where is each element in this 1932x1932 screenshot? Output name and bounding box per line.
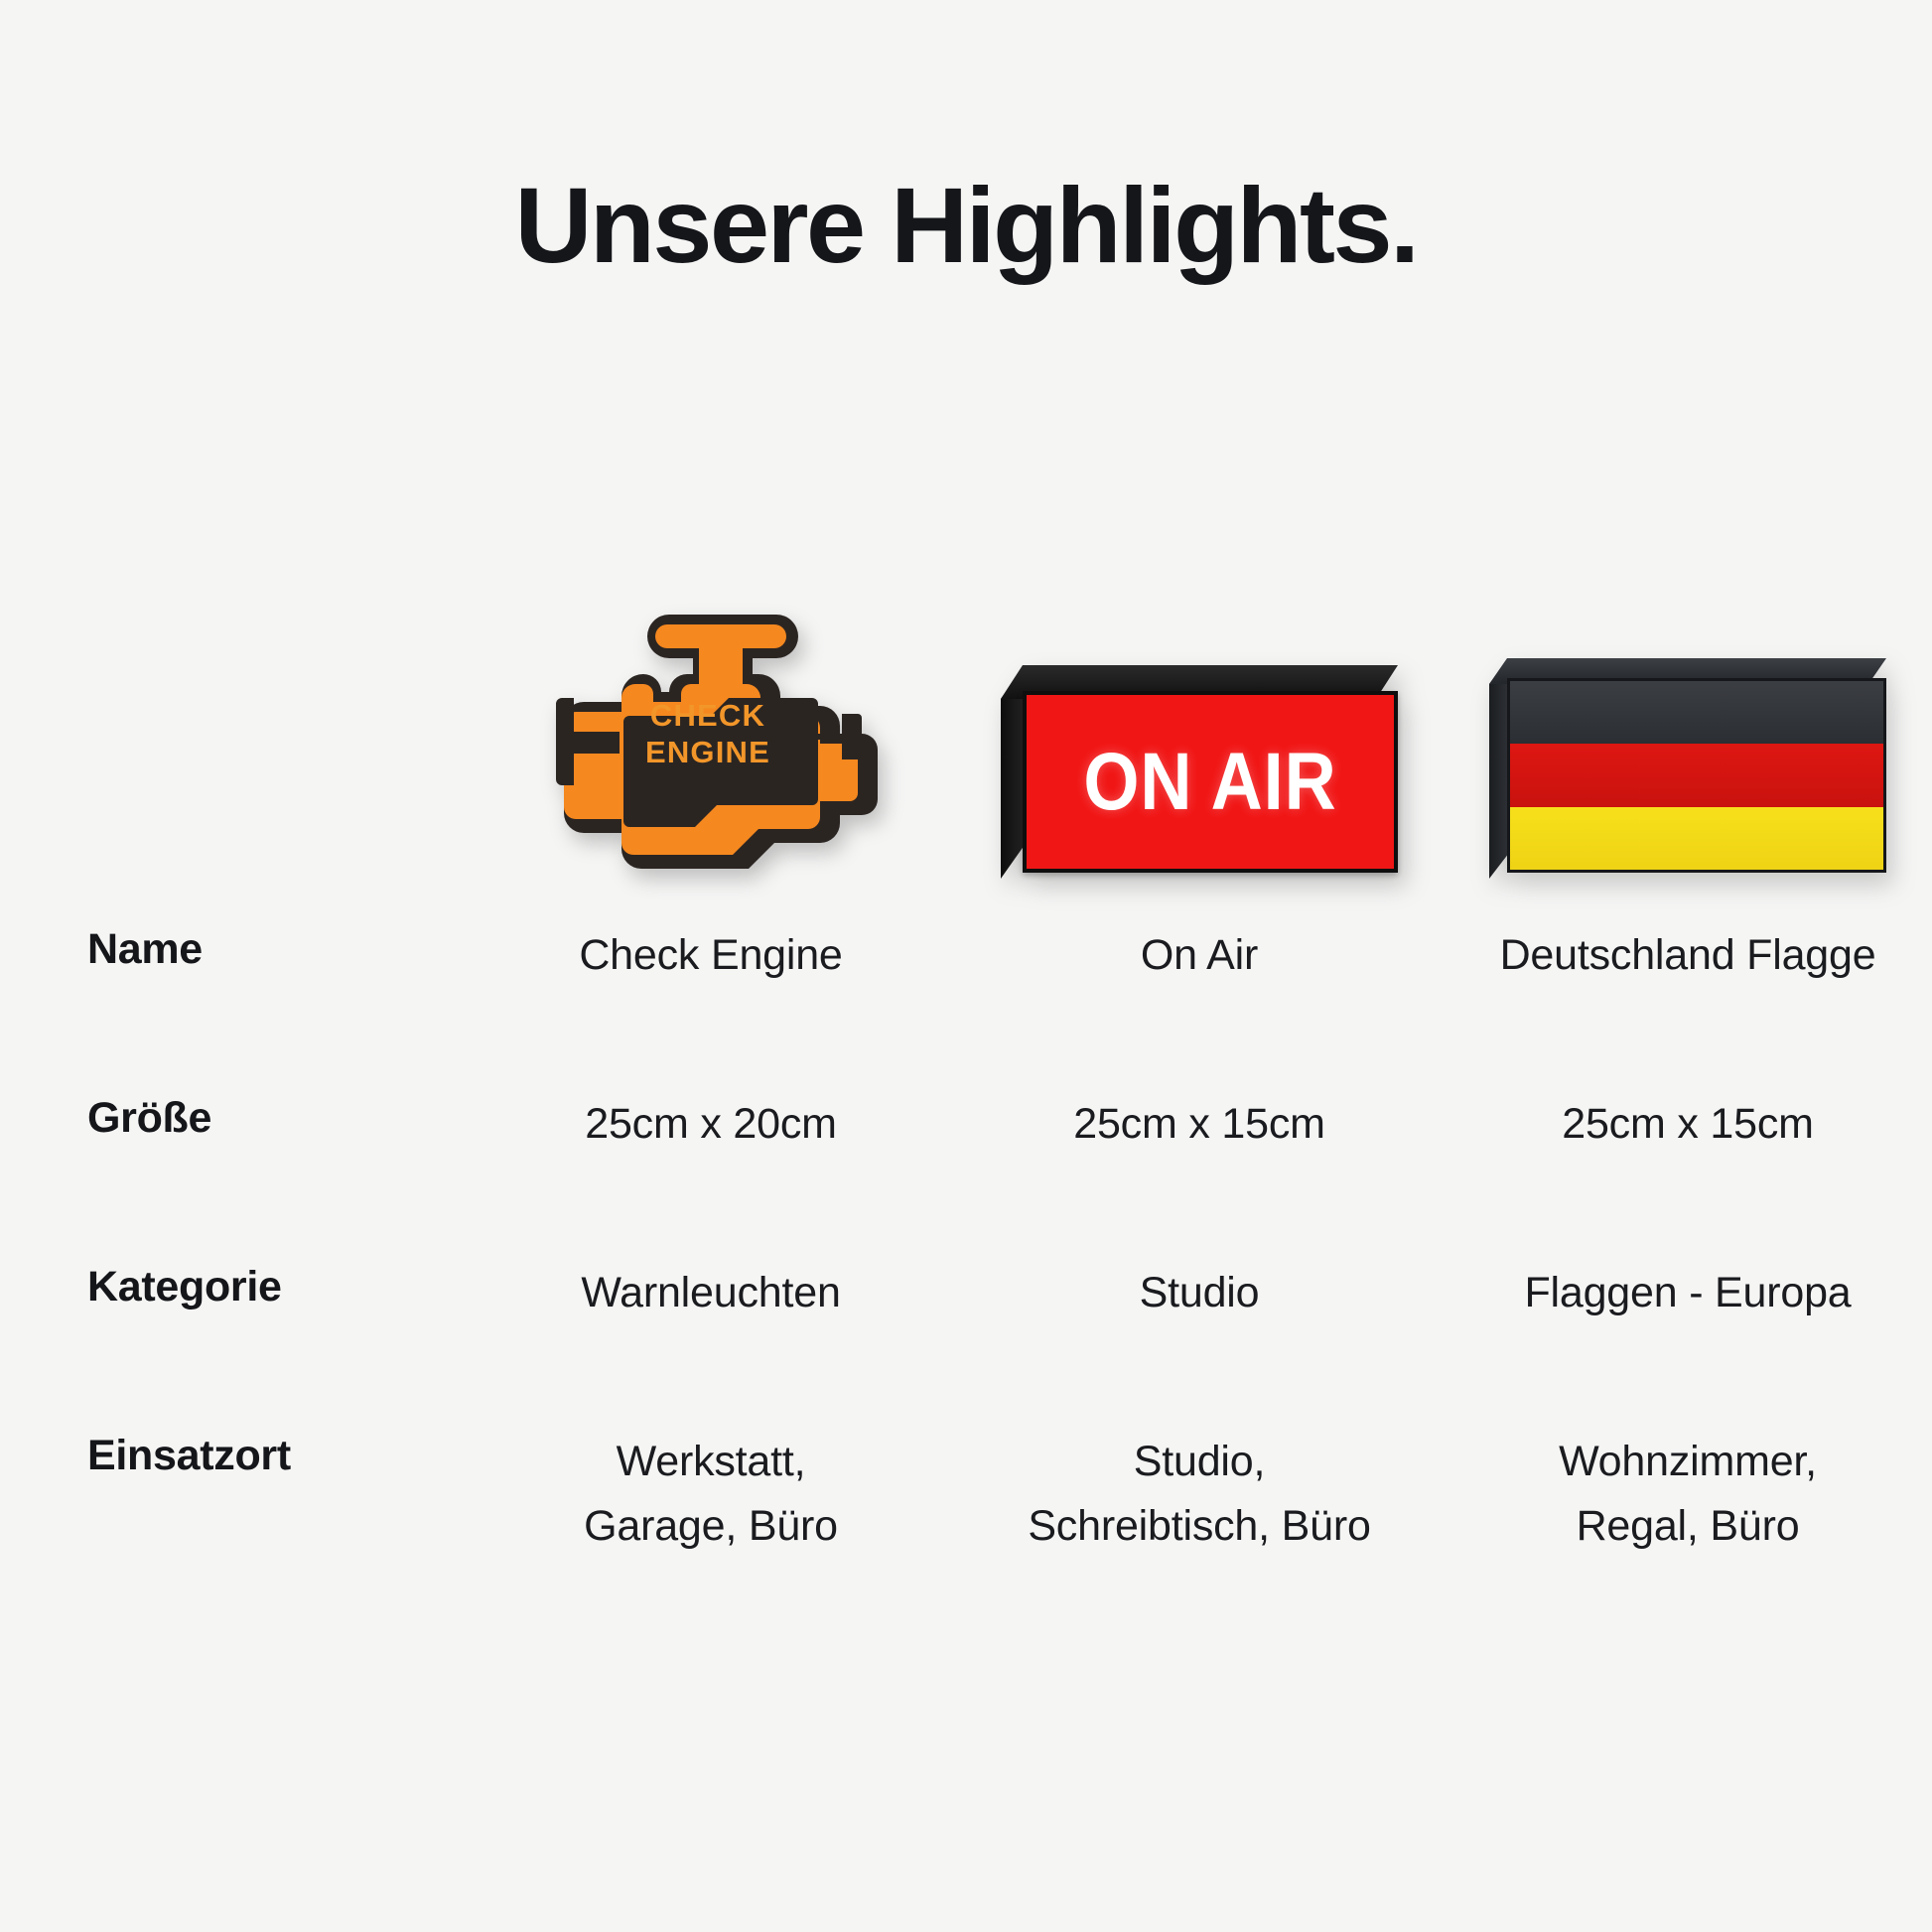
spec-value-einsatzort-check-engine: Werkstatt, Garage, Büro: [467, 1430, 955, 1558]
product-cell-on-air[interactable]: ON AIR: [955, 551, 1444, 879]
spec-value-groesse-on-air: 25cm x 15cm: [955, 1092, 1444, 1157]
spec-value-name-on-air: On Air: [955, 923, 1444, 988]
spec-value-line: Check Engine: [488, 923, 933, 988]
flag-band-gold: [1510, 807, 1883, 870]
spec-value-kategorie-check-engine: Warnleuchten: [467, 1261, 955, 1325]
highlights-page: Unsere Highlights. CHECK ENGINE: [0, 0, 1932, 1932]
spec-value-line: 25cm x 15cm: [977, 1092, 1422, 1157]
table-row: Einsatzort Werkstatt, Garage, Büro Studi…: [0, 1430, 1932, 1628]
flag-band-red: [1510, 744, 1883, 806]
spacer-column: [0, 551, 467, 879]
on-air-box-face: ON AIR: [1023, 691, 1398, 873]
spec-value-line: Warnleuchten: [488, 1261, 933, 1325]
spec-value-kategorie-on-air: Studio: [955, 1261, 1444, 1325]
spec-value-line: Werkstatt,: [488, 1430, 933, 1494]
spec-value-kategorie-deutschland-flagge: Flaggen - Europa: [1444, 1261, 1932, 1325]
table-row: Größe 25cm x 20cm 25cm x 15cm 25cm x 15c…: [0, 1092, 1932, 1261]
product-cell-deutschland-flagge[interactable]: [1444, 551, 1932, 879]
spec-value-groesse-deutschland-flagge: 25cm x 15cm: [1444, 1092, 1932, 1157]
product-cell-check-engine[interactable]: CHECK ENGINE: [467, 551, 955, 879]
spec-value-line: Studio: [977, 1261, 1422, 1325]
spec-value-line: Garage, Büro: [488, 1494, 933, 1559]
page-title: Unsere Highlights.: [0, 167, 1932, 285]
spec-label-kategorie: Kategorie: [0, 1261, 467, 1314]
german-flag-box-side: [1489, 658, 1509, 879]
flag-band-black: [1510, 681, 1883, 744]
check-engine-icon: [502, 581, 919, 879]
spec-value-name-deutschland-flagge: Deutschland Flagge: [1444, 923, 1932, 988]
spec-value-line: Deutschland Flagge: [1465, 923, 1910, 988]
check-engine-lamp-image[interactable]: CHECK ENGINE: [497, 581, 924, 879]
spec-label-name: Name: [0, 923, 467, 977]
spec-table: Name Check Engine On Air Deutschland Fla…: [0, 923, 1932, 1628]
spec-value-line: 25cm x 20cm: [488, 1092, 933, 1157]
table-row: Kategorie Warnleuchten Studio Flaggen - …: [0, 1261, 1932, 1430]
spec-value-line: Wohnzimmer,: [1465, 1430, 1910, 1494]
spec-value-line: Schreibtisch, Büro: [977, 1494, 1422, 1559]
spec-value-line: Studio,: [977, 1430, 1422, 1494]
on-air-label: ON AIR: [1083, 742, 1336, 823]
spec-label-einsatzort: Einsatzort: [0, 1430, 467, 1483]
german-flag-lamp-image[interactable]: [1474, 621, 1901, 879]
spec-value-line: Regal, Büro: [1465, 1494, 1910, 1559]
spec-value-line: 25cm x 15cm: [1465, 1092, 1910, 1157]
spec-value-line: On Air: [977, 923, 1422, 988]
on-air-box: ON AIR: [1001, 665, 1398, 879]
spec-value-groesse-check-engine: 25cm x 20cm: [467, 1092, 955, 1157]
german-flag-box-face: [1507, 678, 1886, 873]
german-flag-box: [1489, 658, 1886, 879]
spec-value-einsatzort-on-air: Studio, Schreibtisch, Büro: [955, 1430, 1444, 1558]
product-image-row: CHECK ENGINE ON AIR: [0, 551, 1932, 879]
table-row: Name Check Engine On Air Deutschland Fla…: [0, 923, 1932, 1092]
on-air-lamp-image[interactable]: ON AIR: [986, 621, 1413, 879]
spec-value-einsatzort-deutschland-flagge: Wohnzimmer, Regal, Büro: [1444, 1430, 1932, 1558]
spec-value-name-check-engine: Check Engine: [467, 923, 955, 988]
spec-value-line: Flaggen - Europa: [1465, 1261, 1910, 1325]
spec-label-groesse: Größe: [0, 1092, 467, 1146]
